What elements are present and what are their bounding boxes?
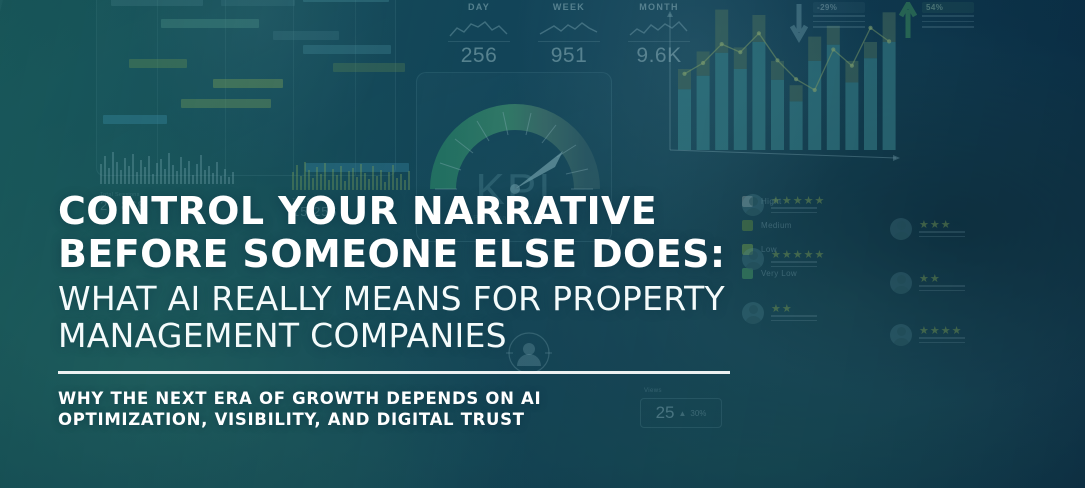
hero-banner: Total Sessions 21 868 [0, 0, 1085, 488]
headline-block: CONTROL YOUR NARRATIVE BEFORE SOMEONE EL… [58, 190, 778, 430]
subheadline-line-2: MANAGEMENT COMPANIES [58, 317, 778, 354]
headline-line-2: BEFORE SOMEONE ELSE DOES: [58, 233, 778, 276]
headline-line-1: CONTROL YOUR NARRATIVE [58, 190, 778, 233]
tagline-line-1: WHY THE NEXT ERA OF GROWTH DEPENDS ON AI [58, 388, 778, 409]
subheadline-line-1: WHAT AI REALLY MEANS FOR PROPERTY [58, 280, 778, 317]
tagline-line-2: OPTIMIZATION, VISIBILITY, AND DIGITAL TR… [58, 409, 778, 430]
divider-rule [58, 371, 730, 374]
